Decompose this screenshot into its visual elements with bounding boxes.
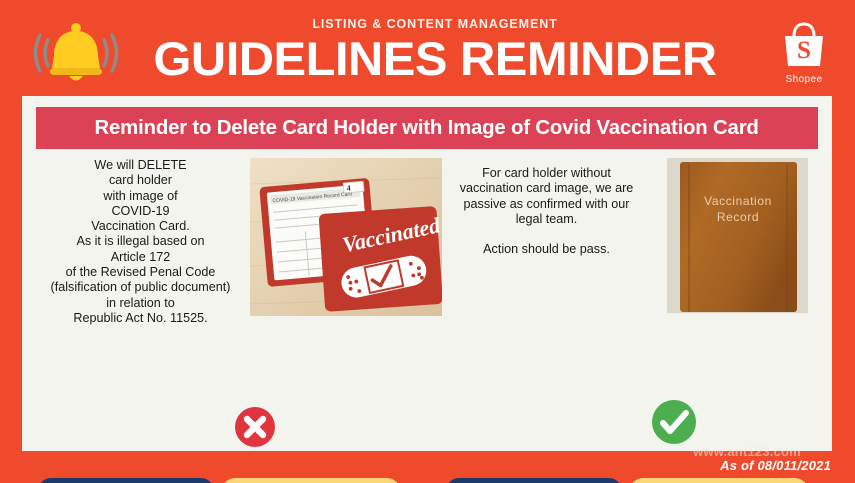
shopee-bag-icon: S	[777, 22, 831, 68]
page-title: GUIDELINES REMINDER	[118, 33, 752, 85]
left-reason-code-value-pill[interactable]: Prohibited Listing	[222, 478, 400, 483]
covid-vaccination-card-photo: COVID-19 Vaccination Record Card 4	[250, 158, 442, 316]
paragraph-gap	[450, 227, 643, 242]
as-of-date: As of 08/011/2021	[720, 458, 831, 473]
red-x-circle-icon	[234, 406, 276, 448]
reminder-banner: Reminder to Delete Card Holder with Imag…	[36, 107, 818, 149]
svg-text:Vaccination: Vaccination	[704, 194, 772, 208]
description-line: Article 172	[38, 250, 243, 265]
description-paragraph: For card holder without vaccination card…	[450, 166, 643, 227]
svg-text:S: S	[797, 37, 811, 64]
right-case-description: For card holder without vaccination card…	[450, 166, 643, 257]
bell-icon	[28, 18, 124, 88]
right-action-value-pill[interactable]: Pass	[630, 478, 808, 483]
description-paragraph: Action should be pass.	[450, 242, 643, 257]
svg-text:4: 4	[346, 183, 351, 192]
description-line: COVID-19	[38, 204, 243, 219]
poster-header: LISTING & CONTENT MANAGEMENT GUIDELINES …	[0, 0, 855, 95]
description-line: of the Revised Penal Code	[38, 265, 243, 280]
description-line: Republic Act No. 11525.	[38, 311, 243, 326]
left-reason-code-label-pill[interactable]: REASON CODE	[38, 478, 214, 483]
description-line: Vaccination Card.	[38, 219, 243, 234]
reminder-banner-text: Reminder to Delete Card Holder with Imag…	[95, 117, 759, 140]
content-panel: Reminder to Delete Card Holder with Imag…	[22, 96, 832, 451]
shopee-logo: S Shopee	[771, 22, 837, 90]
header-text-block: LISTING & CONTENT MANAGEMENT GUIDELINES …	[130, 8, 740, 85]
header-subtitle: LISTING & CONTENT MANAGEMENT	[130, 16, 740, 32]
vaccination-record-booklet-photo: Vaccination Record	[667, 158, 808, 313]
description-line: with image of	[38, 189, 243, 204]
guidelines-reminder-poster: LISTING & CONTENT MANAGEMENT GUIDELINES …	[0, 0, 855, 483]
description-line: As it is illegal based on	[38, 234, 243, 249]
right-action-label-pill[interactable]: ACTION	[446, 478, 622, 483]
description-line: card holder	[38, 173, 243, 188]
green-check-circle-icon	[651, 399, 697, 445]
svg-text:Record: Record	[717, 210, 759, 224]
description-line: We will DELETE	[38, 158, 243, 173]
description-line: (falsification of public document)	[38, 280, 243, 295]
shopee-wordmark: Shopee	[771, 74, 837, 85]
left-case-description: We will DELETEcard holderwith image ofCO…	[38, 158, 243, 326]
description-line: in relation to	[38, 296, 243, 311]
